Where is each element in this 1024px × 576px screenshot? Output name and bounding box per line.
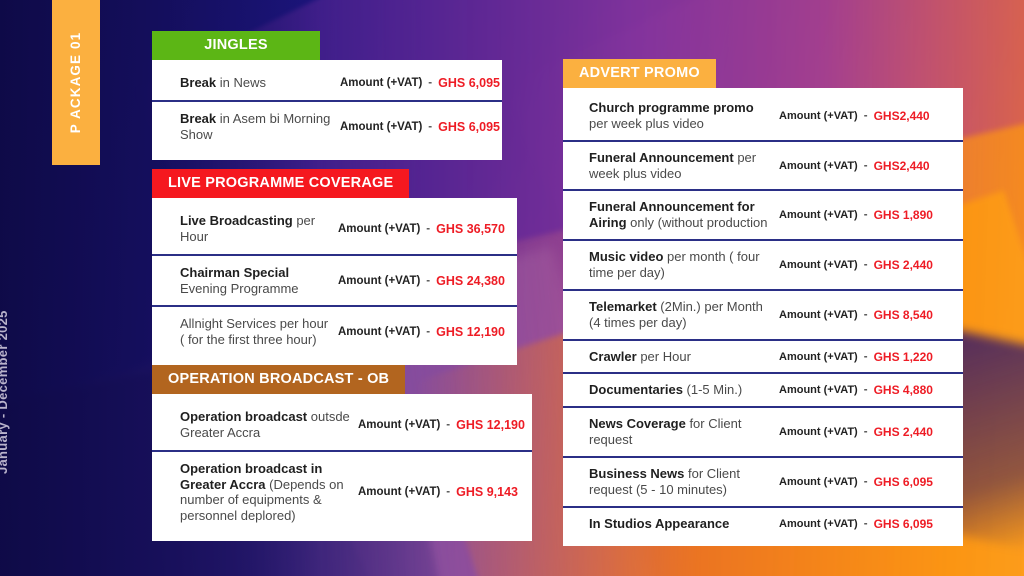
amount-value: GHS 6,095 (438, 76, 500, 90)
rate-item-label: Operation broadcast in Greater Accra (De… (180, 461, 358, 524)
amount-separator: - (864, 476, 868, 488)
amount-separator: - (864, 426, 868, 438)
rate-item-name: Break (180, 111, 216, 126)
rate-amount: Amount (+VAT) - GHS2,440 (779, 109, 930, 123)
amount-separator: - (446, 419, 450, 431)
table-row: Break in Asem bi Morning Show Amount (+V… (152, 102, 502, 152)
table-row: Funeral Announcement per week plus video… (563, 142, 963, 192)
amount-value: GHS 6,095 (874, 517, 933, 531)
section-body-advert-promo: Church programme promo per week plus vid… (563, 88, 963, 546)
table-row: Business News for Client request (5 - 10… (563, 458, 963, 508)
brand-period: January - December 2025 (0, 310, 10, 474)
rate-item-detail: only (without production (627, 215, 768, 230)
rate-item-detail: per Hour (637, 349, 691, 364)
rate-item-detail: in News (216, 75, 266, 90)
rate-item-label: Documentaries (1-5 Min.) (589, 382, 779, 398)
rate-item-name: Live Broadcasting (180, 213, 293, 228)
amount-value: GHS 1,220 (874, 350, 933, 364)
amount-label: Amount (+VAT) (779, 476, 858, 488)
amount-label: Amount (+VAT) (779, 209, 858, 221)
amount-separator: - (864, 259, 868, 271)
section-body-operation-broadcast: Operation broadcast outsde Greater Accra… (152, 394, 532, 541)
amount-separator: - (864, 384, 868, 396)
rate-amount: Amount (+VAT) - GHS 12,190 (338, 325, 505, 339)
section-body-jingles: Break in News Amount (+VAT) - GHS 6,095 … (152, 60, 502, 160)
amount-value: GHS 12,190 (456, 418, 525, 432)
amount-value: GHS 6,095 (438, 120, 500, 134)
section-body-live-programme-coverage: Live Broadcasting per Hour Amount (+VAT)… (152, 198, 517, 365)
section-advert-promo: ADVERT PROMO Church programme promo per … (563, 59, 963, 546)
rate-item-label: Break in Asem bi Morning Show (180, 111, 340, 143)
rate-amount: Amount (+VAT) - GHS 1,890 (779, 208, 933, 222)
rate-amount: Amount (+VAT) - GHS 6,095 (340, 76, 500, 90)
table-row: Telemarket (2Min.) per Month (4 times pe… (563, 291, 963, 341)
amount-value: GHS 1,890 (874, 208, 933, 222)
amount-value: GHS2,440 (874, 109, 930, 123)
amount-value: GHS 24,380 (436, 274, 505, 288)
amount-separator: - (864, 518, 868, 530)
amount-label: Amount (+VAT) (338, 223, 420, 235)
amount-separator: - (426, 223, 430, 235)
rate-item-name: In Studios Appearance (589, 516, 729, 531)
amount-separator: - (426, 326, 430, 338)
amount-label: Amount (+VAT) (340, 77, 422, 89)
rate-item-name: Church programme promo (589, 100, 754, 115)
rate-amount: Amount (+VAT) - GHS 8,540 (779, 308, 933, 322)
section-header-live-programme-coverage: LIVE PROGRAMME COVERAGE (152, 169, 409, 198)
amount-value: GHS 4,880 (874, 383, 933, 397)
rate-item-label: News Coverage for Client request (589, 416, 779, 448)
rate-item-name: Operation broadcast (180, 409, 307, 424)
section-live-programme-coverage: LIVE PROGRAMME COVERAGE Live Broadcastin… (152, 169, 517, 365)
amount-label: Amount (+VAT) (358, 419, 440, 431)
rate-item-label: Telemarket (2Min.) per Month (4 times pe… (589, 299, 779, 331)
rate-item-name: Music video (589, 249, 663, 264)
table-row: Crawler per Hour Amount (+VAT) - GHS 1,2… (563, 341, 963, 375)
amount-label: Amount (+VAT) (340, 121, 422, 133)
amount-separator: - (428, 121, 432, 133)
package-tab: P ACKAGE 01 (52, 0, 100, 165)
amount-value: GHS 9,143 (456, 485, 518, 499)
table-row: Operation broadcast in Greater Accra (De… (152, 452, 532, 533)
table-row: Music video per month ( four time per da… (563, 241, 963, 291)
amount-value: GHS 2,440 (874, 425, 933, 439)
rate-amount: Amount (+VAT) - GHS 2,440 (779, 258, 933, 272)
rate-amount: Amount (+VAT) - GHS 6,095 (779, 517, 933, 531)
table-row: Live Broadcasting per Hour Amount (+VAT)… (152, 204, 517, 256)
amount-separator: - (864, 110, 868, 122)
rate-item-label: Business News for Client request (5 - 10… (589, 466, 779, 498)
rate-item-name: News Coverage (589, 416, 686, 431)
rate-amount: Amount (+VAT) - GHS 36,570 (338, 222, 505, 236)
table-row: Operation broadcast outsde Greater Accra… (152, 400, 532, 452)
rate-amount: Amount (+VAT) - GHS 6,095 (340, 120, 500, 134)
table-row: Break in News Amount (+VAT) - GHS 6,095 (152, 66, 502, 102)
section-header-operation-broadcast: OPERATION BROADCAST - OB (152, 365, 405, 394)
amount-value: GHS 2,440 (874, 258, 933, 272)
amount-label: Amount (+VAT) (779, 351, 858, 363)
rate-item-label: Operation broadcast outsde Greater Accra (180, 409, 358, 441)
rate-item-label: Allnight Services per hour ( for the fir… (180, 316, 338, 348)
rate-amount: Amount (+VAT) - GHS 2,440 (779, 425, 933, 439)
rate-item-label: Music video per month ( four time per da… (589, 249, 779, 281)
rate-item-detail: Allnight Services per hour ( for the fir… (180, 316, 328, 347)
amount-separator: - (428, 77, 432, 89)
rate-item-label: Church programme promo per week plus vid… (589, 100, 779, 132)
amount-label: Amount (+VAT) (358, 486, 440, 498)
brand-block: RateCard January - December 2025 (18, 284, 128, 534)
table-row: Allnight Services per hour ( for the fir… (152, 307, 517, 357)
table-row: News Coverage for Client request Amount … (563, 408, 963, 458)
amount-separator: - (426, 275, 430, 287)
rate-item-name: Telemarket (589, 299, 657, 314)
rate-item-detail: Evening Programme (180, 281, 299, 296)
rate-item-label: In Studios Appearance (589, 516, 779, 532)
rate-item-name: Funeral Announcement (589, 150, 734, 165)
rate-amount: Amount (+VAT) - GHS 12,190 (358, 418, 525, 432)
amount-value: GHS 8,540 (874, 308, 933, 322)
rate-item-label: Crawler per Hour (589, 349, 779, 365)
amount-label: Amount (+VAT) (779, 518, 858, 530)
amount-label: Amount (+VAT) (338, 326, 420, 338)
rate-item-detail: (1-5 Min.) (683, 382, 742, 397)
rate-amount: Amount (+VAT) - GHS 1,220 (779, 350, 933, 364)
amount-value: GHS 6,095 (874, 475, 933, 489)
rate-item-label: Funeral Announcement per week plus video (589, 150, 779, 182)
package-tab-label: P ACKAGE 01 (69, 32, 84, 133)
amount-label: Amount (+VAT) (338, 275, 420, 287)
table-row: Funeral Announcement for Airing only (wi… (563, 191, 963, 241)
amount-label: Amount (+VAT) (779, 426, 858, 438)
rate-item-name: Business News (589, 466, 684, 481)
amount-label: Amount (+VAT) (779, 384, 858, 396)
table-row: Documentaries (1-5 Min.) Amount (+VAT) -… (563, 374, 963, 408)
rate-amount: Amount (+VAT) - GHS2,440 (779, 159, 930, 173)
table-row: Chairman Special Evening Programme Amoun… (152, 256, 517, 308)
rate-amount: Amount (+VAT) - GHS 4,880 (779, 383, 933, 397)
rate-amount: Amount (+VAT) - GHS 9,143 (358, 485, 518, 499)
rate-item-name: Crawler (589, 349, 637, 364)
amount-separator: - (446, 486, 450, 498)
table-row: In Studios Appearance Amount (+VAT) - GH… (563, 508, 963, 540)
rate-amount: Amount (+VAT) - GHS 6,095 (779, 475, 933, 489)
section-operation-broadcast: OPERATION BROADCAST - OB Operation broad… (152, 365, 532, 541)
rate-item-name: Documentaries (589, 382, 683, 397)
amount-value: GHS 12,190 (436, 325, 505, 339)
rate-item-label: Funeral Announcement for Airing only (wi… (589, 199, 779, 231)
rate-amount: Amount (+VAT) - GHS 24,380 (338, 274, 505, 288)
section-header-advert-promo: ADVERT PROMO (563, 59, 716, 88)
rate-item-label: Live Broadcasting per Hour (180, 213, 338, 245)
section-jingles: JINGLES Break in News Amount (+VAT) - GH… (152, 31, 502, 160)
rate-item-name: Break (180, 75, 216, 90)
amount-label: Amount (+VAT) (779, 309, 858, 321)
rate-card-poster: P ACKAGE 01 RateCard January - December … (0, 0, 1024, 576)
amount-separator: - (864, 209, 868, 221)
amount-separator: - (864, 309, 868, 321)
amount-label: Amount (+VAT) (779, 259, 858, 271)
rate-item-detail: per week plus video (589, 116, 704, 131)
amount-separator: - (864, 160, 868, 172)
amount-value: GHS 36,570 (436, 222, 505, 236)
rate-item-label: Chairman Special Evening Programme (180, 265, 338, 297)
amount-label: Amount (+VAT) (779, 110, 858, 122)
amount-value: GHS2,440 (874, 159, 930, 173)
section-header-jingles: JINGLES (152, 31, 320, 60)
rate-item-label: Break in News (180, 75, 340, 91)
rate-item-name: Chairman Special (180, 265, 289, 280)
amount-separator: - (864, 351, 868, 363)
amount-label: Amount (+VAT) (779, 160, 858, 172)
table-row: Church programme promo per week plus vid… (563, 92, 963, 142)
